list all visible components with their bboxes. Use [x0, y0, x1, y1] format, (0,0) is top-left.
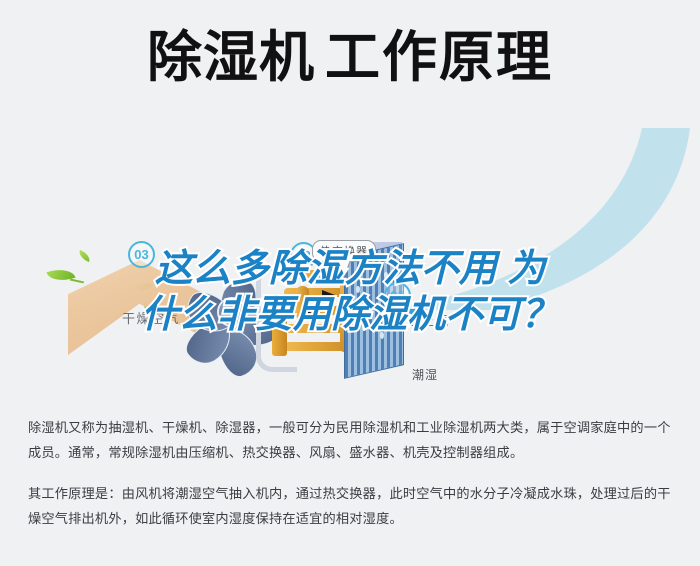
- title-part-a: 除湿机: [147, 30, 315, 85]
- body-text: 除湿机又称为抽湿机、干燥机、除湿器，一般可分为民用除湿机和工业除湿机两大类，属于…: [28, 415, 676, 547]
- leaf-icon: [77, 250, 92, 262]
- humid-air-swoosh: [370, 128, 700, 328]
- step-marker-03: 03: [128, 241, 155, 268]
- dry-air-label: 干燥空气: [122, 308, 180, 327]
- step-marker-01: 01: [384, 282, 411, 309]
- body-paragraph-2: 其工作原理是：由风机将潮湿空气抽入机内，通过热交换器，此时空气中的水分子冷凝成水…: [28, 481, 676, 531]
- heat-exchanger-callout: 热交换器: [312, 240, 376, 262]
- mini-humid-label: 潮湿: [412, 366, 438, 383]
- diagram-stage: 水箱 03 02 01 干燥空气 潮湿空气 热交换器 潮湿 冷凝成水珠 03 从…: [0, 100, 700, 400]
- dehumidifier-infographic: 除湿机 工作原理: [0, 0, 700, 566]
- title-part-b: 工作原理: [325, 30, 553, 85]
- flow-arrow-up-icon: [304, 308, 314, 321]
- body-paragraph-1: 除湿机又称为抽湿机、干燥机、除湿器，一般可分为民用除湿机和工业除湿机两大类，属于…: [28, 415, 676, 465]
- page-title: 除湿机 工作原理: [0, 18, 700, 96]
- humid-air-label: 潮湿空气: [392, 310, 450, 329]
- leaf-stem-icon: [70, 279, 84, 283]
- leaf-icon: [46, 264, 75, 285]
- flow-arrow-right-icon: [322, 290, 335, 300]
